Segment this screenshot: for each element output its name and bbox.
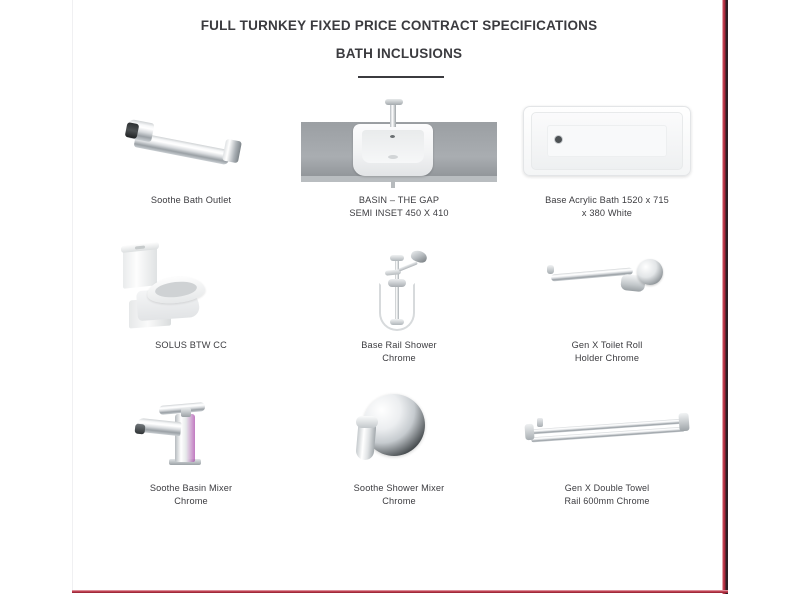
- basin-counter-front: [301, 176, 497, 182]
- caption-line: Rail 600mm Chrome: [517, 495, 697, 508]
- roll-holder-arm-tip: [547, 265, 554, 274]
- page-border-right-dark: [726, 0, 728, 594]
- page-subtitle: BATH INCLUSIONS: [73, 46, 725, 61]
- screenshot-root: FULL TURNKEY FIXED PRICE CONTRACT SPECIF…: [0, 0, 800, 600]
- caption-line: Base Acrylic Bath 1520 x 715: [517, 194, 697, 207]
- shower-mixer-icon: [301, 380, 497, 478]
- caption-line: Soothe Bath Outlet: [101, 194, 281, 207]
- product-cell-soothe-shower-mixer: Soothe Shower Mixer Chrome: [295, 380, 503, 520]
- basin-waste-pipe: [391, 180, 395, 188]
- product-caption: Gen X Double Towel Rail 600mm Chrome: [517, 482, 697, 507]
- caption-line: BASIN – THE GAP: [309, 194, 489, 207]
- product-grid: Soothe Bath Outlet BASIN – THE G: [87, 92, 711, 520]
- shower-rail-slider: [388, 279, 406, 287]
- product-caption: Gen X Toilet Roll Holder Chrome: [517, 339, 697, 364]
- mixer-lever-knob: [181, 408, 191, 417]
- caption-line: SOLUS BTW CC: [101, 339, 281, 352]
- roll-holder-wall-plate: [637, 259, 663, 285]
- bath-spout-icon: [93, 92, 289, 190]
- basin-drain: [388, 155, 398, 159]
- towel-rail-bracket-left: [524, 424, 534, 441]
- mixer-spout-outlet: [135, 424, 146, 435]
- caption-line: x 380 White: [517, 207, 697, 220]
- product-cell-toilet-roll-holder: Gen X Toilet Roll Holder Chrome: [503, 237, 711, 380]
- towel-rail-bracket-right: [678, 413, 689, 432]
- product-caption: Soothe Bath Outlet: [101, 194, 281, 207]
- caption-line: Soothe Basin Mixer: [101, 482, 281, 495]
- product-caption: BASIN – THE GAP SEMI INSET 450 X 410: [309, 194, 489, 219]
- bathtub-base: [547, 125, 667, 157]
- shower-rail-bracket-bottom: [390, 319, 404, 325]
- semi-inset-basin-icon: [301, 92, 497, 190]
- caption-line: Gen X Toilet Roll: [517, 339, 697, 352]
- basin-overflow-hole: [390, 135, 395, 138]
- caption-line: Gen X Double Towel: [517, 482, 697, 495]
- caption-line: Chrome: [309, 352, 489, 365]
- product-cell-solus-btw-cc: SOLUS BTW CC: [87, 237, 295, 380]
- product-caption: Soothe Basin Mixer Chrome: [101, 482, 281, 507]
- caption-line: Chrome: [309, 495, 489, 508]
- double-towel-rail-icon: [509, 380, 705, 478]
- towel-rail-post-left: [537, 418, 543, 427]
- toilet-roll-holder-icon: [509, 237, 705, 335]
- product-caption: SOLUS BTW CC: [101, 339, 281, 352]
- caption-line: Soothe Shower Mixer: [309, 482, 489, 495]
- basin-tap-stem: [390, 102, 396, 127]
- product-caption: Soothe Shower Mixer Chrome: [309, 482, 489, 507]
- basin-mixer-icon: [93, 380, 289, 478]
- title-divider: [358, 76, 444, 78]
- toilet-suite-icon: [93, 237, 289, 335]
- shower-mixer-lever-cap: [356, 416, 378, 428]
- document-page: FULL TURNKEY FIXED PRICE CONTRACT SPECIF…: [72, 0, 724, 593]
- product-caption: Base Acrylic Bath 1520 x 715 x 380 White: [517, 194, 697, 219]
- acrylic-bathtub-icon: [509, 92, 705, 190]
- caption-line: SEMI INSET 450 X 410: [309, 207, 489, 220]
- page-title: FULL TURNKEY FIXED PRICE CONTRACT SPECIF…: [73, 18, 725, 33]
- product-cell-soothe-basin-mixer: Soothe Basin Mixer Chrome: [87, 380, 295, 520]
- rail-shower-icon: [301, 237, 497, 335]
- product-cell-soothe-bath-outlet: Soothe Bath Outlet: [87, 92, 295, 237]
- caption-line: Chrome: [101, 495, 281, 508]
- shower-head-arm: [398, 261, 418, 271]
- caption-line: Holder Chrome: [517, 352, 697, 365]
- product-caption: Base Rail Shower Chrome: [309, 339, 489, 364]
- page-border-bottom: [72, 590, 728, 593]
- shower-rail-bracket-top: [390, 255, 404, 261]
- product-cell-base-acrylic-bath: Base Acrylic Bath 1520 x 715 x 380 White: [503, 92, 711, 237]
- product-cell-base-rail-shower: Base Rail Shower Chrome: [295, 237, 503, 380]
- product-cell-double-towel-rail: Gen X Double Towel Rail 600mm Chrome: [503, 380, 711, 520]
- spout-wall-flange: [222, 139, 242, 164]
- product-cell-basin-the-gap: BASIN – THE GAP SEMI INSET 450 X 410: [295, 92, 503, 237]
- caption-line: Base Rail Shower: [309, 339, 489, 352]
- basin-tap-head: [385, 99, 403, 105]
- shower-slide-rail: [395, 257, 399, 323]
- bathtub-drain: [555, 136, 562, 143]
